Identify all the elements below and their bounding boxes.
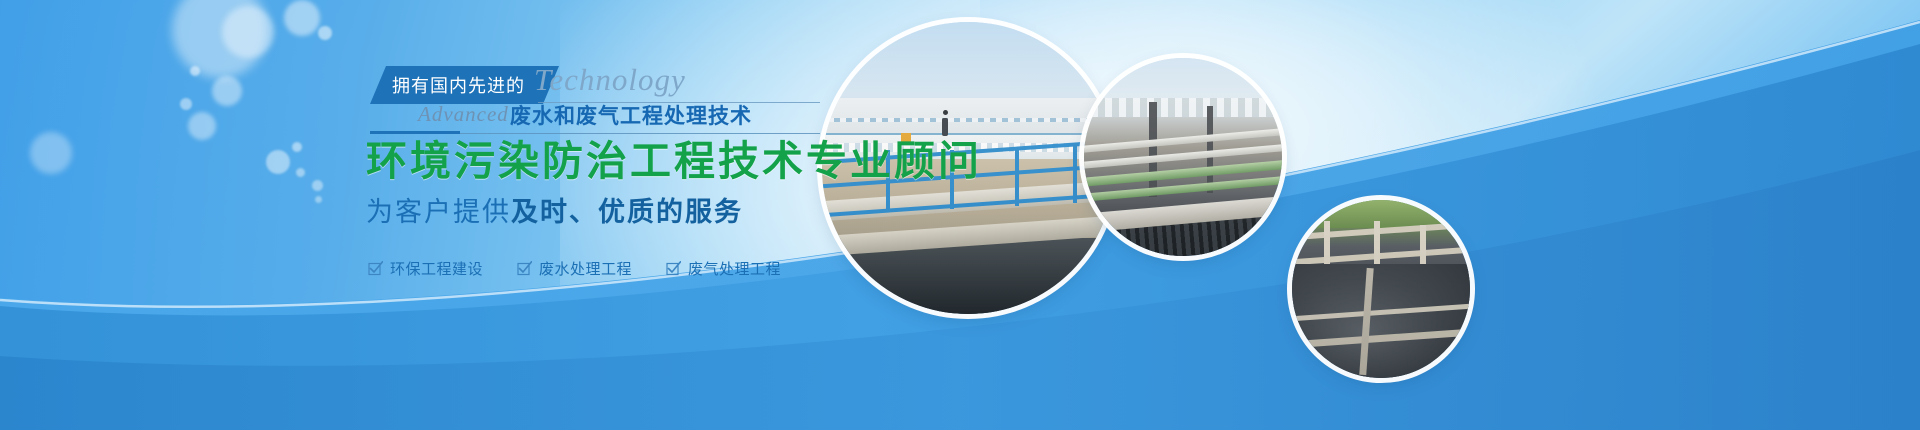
banner-subline: 为客户提供及时、优质的服务 (366, 190, 836, 229)
check-icon (368, 261, 383, 276)
list-item[interactable]: 废气处理工程 (666, 258, 781, 279)
subtitle-chinese: 废水和废气工程处理技术 (510, 100, 752, 130)
feature-label: 废水处理工程 (539, 258, 632, 279)
feature-list: 环保工程建设 废水处理工程 废气处理工程 (368, 258, 781, 279)
banner-copy: 拥有国内先进的 Technology Advanced 废水和废气工程处理技术 … (0, 0, 860, 430)
feature-label: 废气处理工程 (688, 258, 781, 279)
aeration-basin-walkway-photo (1084, 58, 1282, 256)
subline-bold-text: 及时、优质的服务 (511, 197, 743, 227)
tagline-badge: 拥有国内先进的 (370, 66, 559, 104)
feature-label: 环保工程建设 (390, 258, 483, 279)
headline-divider-accent (370, 131, 460, 134)
advanced-script-word: Advanced (418, 102, 509, 127)
list-item[interactable]: 废水处理工程 (517, 258, 632, 279)
tagline-row: 拥有国内先进的 Technology (370, 66, 820, 104)
technology-script-word: Technology (534, 62, 686, 98)
sludge-drying-bed-photo (1292, 200, 1470, 378)
check-icon (666, 261, 681, 276)
promo-banner: 拥有国内先进的 Technology Advanced 废水和废气工程处理技术 … (0, 0, 1920, 430)
advanced-row: Advanced 废水和废气工程处理技术 (370, 100, 830, 132)
subline-plain-text: 为客户提供 (366, 197, 511, 227)
list-item[interactable]: 环保工程建设 (368, 258, 483, 279)
check-icon (517, 261, 532, 276)
page-title: 环境污染防治工程技术专业顾问 (366, 138, 836, 185)
